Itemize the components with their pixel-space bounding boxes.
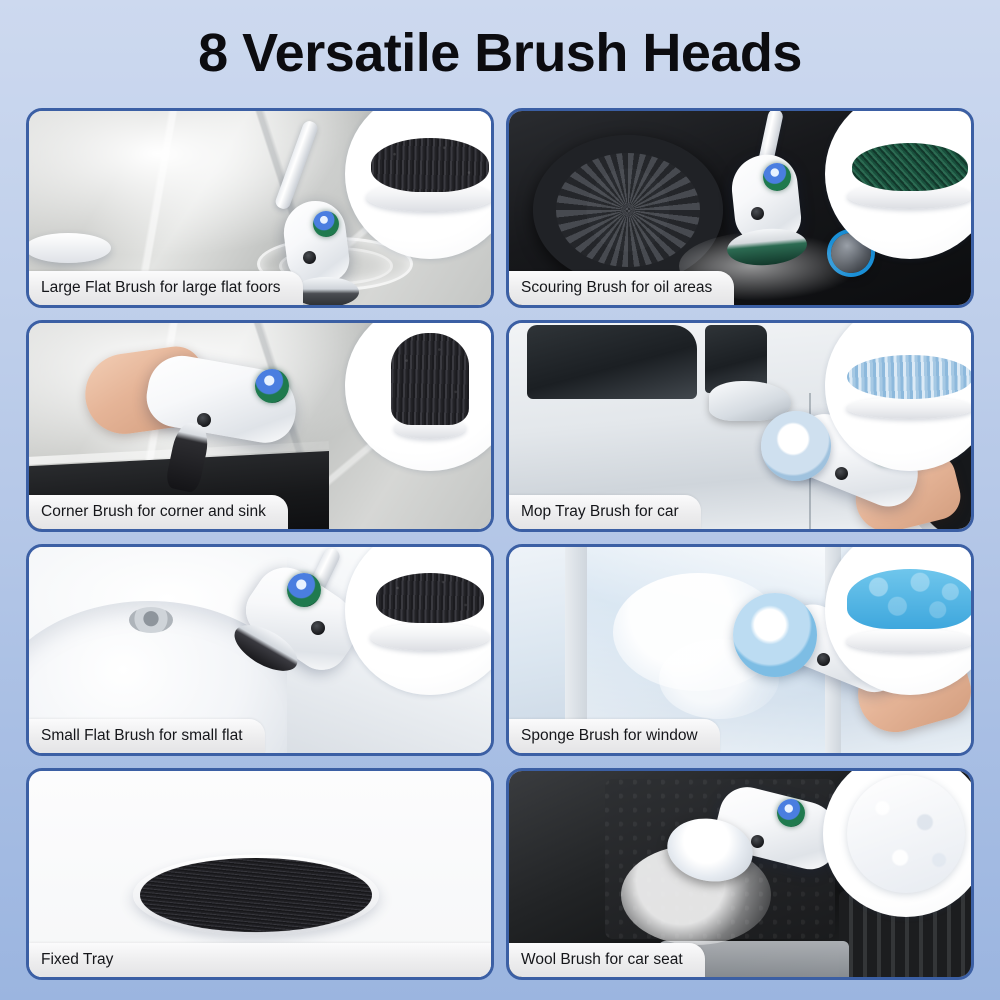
fixed-tray-disc xyxy=(133,855,379,936)
brush-head-large-flat xyxy=(364,136,494,212)
brush-head-wool xyxy=(847,775,965,893)
device-display xyxy=(255,369,289,403)
power-button xyxy=(751,207,764,220)
brush-bristles xyxy=(371,138,489,192)
caption-wool-brush: Wool Brush for car seat xyxy=(509,943,705,977)
panel-large-flat-brush[interactable]: Large Flat Brush for large flat foors xyxy=(26,108,494,308)
panel-scouring-brush[interactable]: Scouring Brush for oil areas xyxy=(506,108,974,308)
panel-fixed-tray[interactable]: Fixed Tray xyxy=(26,768,494,980)
attached-brush-head xyxy=(293,277,359,305)
caption-corner-brush: Corner Brush for corner and sink xyxy=(29,495,288,529)
sponge-pad-surface xyxy=(847,569,973,629)
device-display xyxy=(763,163,791,191)
attached-mop-pad xyxy=(761,411,831,481)
caption-small-flat-brush: Small Flat Brush for small flat xyxy=(29,719,265,753)
power-button xyxy=(311,621,325,635)
caption-scouring-brush: Scouring Brush for oil areas xyxy=(509,271,734,305)
sink-drain xyxy=(129,607,173,633)
brush-head-small-flat xyxy=(365,569,494,651)
brush-head-scouring xyxy=(844,139,974,209)
power-button xyxy=(751,835,764,848)
panel-corner-brush[interactable]: Corner Brush for corner and sink xyxy=(26,320,494,532)
caption-fixed-tray: Fixed Tray xyxy=(29,943,491,977)
corner-brush-bristles xyxy=(391,333,469,425)
panel-wool-brush[interactable]: Wool Brush for car seat xyxy=(506,768,974,980)
fixed-tray-hook-surface xyxy=(140,858,372,932)
caption-large-flat-brush: Large Flat Brush for large flat foors xyxy=(29,271,303,305)
microfiber-pad-surface xyxy=(847,355,973,399)
brush-base-plate xyxy=(370,623,490,651)
panel-grid: Large Flat Brush for large flat foors xyxy=(26,108,974,980)
brush-base-plate xyxy=(846,629,974,653)
device-display xyxy=(777,799,805,827)
scouring-pad-surface xyxy=(852,143,968,191)
brush-base-plate xyxy=(846,397,974,419)
brush-head-sponge xyxy=(842,567,974,653)
brush-head-mop-tray xyxy=(842,353,974,419)
device-display xyxy=(313,211,339,237)
panel-mop-tray-brush[interactable]: Mop Tray Brush for car xyxy=(506,320,974,532)
poster-root: 8 Versatile Brush Heads xyxy=(0,0,1000,1000)
page-title: 8 Versatile Brush Heads xyxy=(0,22,1000,84)
spare-disc-on-floor xyxy=(29,233,111,263)
power-button xyxy=(817,653,830,666)
power-button xyxy=(303,251,316,264)
panel-sponge-brush[interactable]: Sponge Brush for window xyxy=(506,544,974,756)
brush-bristles xyxy=(376,573,484,623)
caption-mop-tray-brush: Mop Tray Brush for car xyxy=(509,495,701,529)
brush-head-corner xyxy=(375,333,485,439)
car-window xyxy=(527,325,697,399)
caption-sponge-brush: Sponge Brush for window xyxy=(509,719,720,753)
panel-small-flat-brush[interactable]: Small Flat Brush for small flat xyxy=(26,544,494,756)
attached-sponge-pad xyxy=(733,593,817,677)
power-button xyxy=(835,467,848,480)
device-display xyxy=(287,573,321,607)
